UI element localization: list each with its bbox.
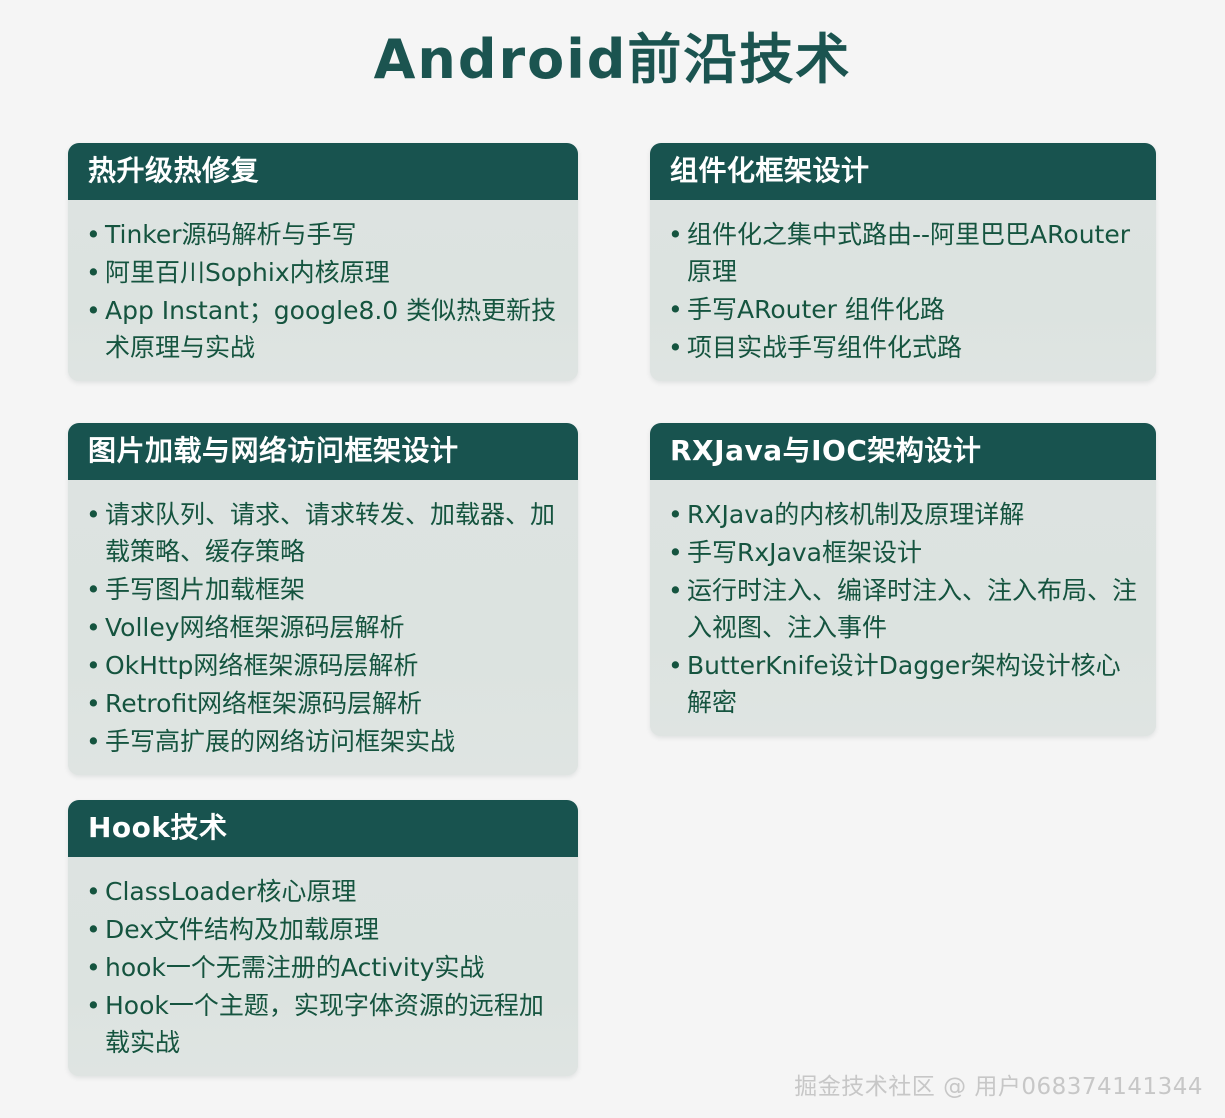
card-modular-title: 组件化框架设计 <box>650 143 1156 200</box>
card-imageload-list: 请求队列、请求、请求转发、加载器、加载策略、缓存策略 手写图片加载框架 Voll… <box>86 496 560 760</box>
card-hook: Hook技术 ClassLoader核心原理 Dex文件结构及加载原理 hook… <box>68 800 578 1076</box>
card-rxjava-list: RXJava的内核机制及原理详解 手写RxJava框架设计 运行时注入、编译时注… <box>668 496 1138 721</box>
list-item: 手写ARouter 组件化路 <box>668 291 1138 328</box>
card-rxjava: RXJava与IOC架构设计 RXJava的内核机制及原理详解 手写RxJava… <box>650 423 1156 736</box>
card-hotfix-list: Tinker源码解析与手写 阿里百川Sophix内核原理 App Instant… <box>86 216 560 366</box>
card-modular-body: 组件化之集中式路由--阿里巴巴ARouter原理 手写ARouter 组件化路 … <box>650 200 1156 381</box>
card-board: 热升级热修复 Tinker源码解析与手写 阿里百川Sophix内核原理 App … <box>0 0 1225 1118</box>
card-imageload: 图片加载与网络访问框架设计 请求队列、请求、请求转发、加载器、加载策略、缓存策略… <box>68 423 578 775</box>
list-item: 请求队列、请求、请求转发、加载器、加载策略、缓存策略 <box>86 496 560 570</box>
list-item: 项目实战手写组件化式路 <box>668 329 1138 366</box>
list-item: 手写图片加载框架 <box>86 571 560 608</box>
list-item: RXJava的内核机制及原理详解 <box>668 496 1138 533</box>
list-item: hook一个无需注册的Activity实战 <box>86 949 560 986</box>
card-hook-body: ClassLoader核心原理 Dex文件结构及加载原理 hook一个无需注册的… <box>68 857 578 1076</box>
card-imageload-body: 请求队列、请求、请求转发、加载器、加载策略、缓存策略 手写图片加载框架 Voll… <box>68 480 578 775</box>
list-item: 组件化之集中式路由--阿里巴巴ARouter原理 <box>668 216 1138 290</box>
card-hook-list: ClassLoader核心原理 Dex文件结构及加载原理 hook一个无需注册的… <box>86 873 560 1061</box>
card-rxjava-title: RXJava与IOC架构设计 <box>650 423 1156 480</box>
card-hotfix-body: Tinker源码解析与手写 阿里百川Sophix内核原理 App Instant… <box>68 200 578 381</box>
card-hook-title: Hook技术 <box>68 800 578 857</box>
list-item: 手写高扩展的网络访问框架实战 <box>86 723 560 760</box>
card-imageload-title: 图片加载与网络访问框架设计 <box>68 423 578 480</box>
list-item: Dex文件结构及加载原理 <box>86 911 560 948</box>
list-item: App Instant；google8.0 类似热更新技术原理与实战 <box>86 292 560 366</box>
list-item: Hook一个主题，实现字体资源的远程加载实战 <box>86 987 560 1061</box>
list-item: ClassLoader核心原理 <box>86 873 560 910</box>
list-item: Tinker源码解析与手写 <box>86 216 560 253</box>
card-hotfix-title: 热升级热修复 <box>68 143 578 200</box>
list-item: 手写RxJava框架设计 <box>668 534 1138 571</box>
card-modular: 组件化框架设计 组件化之集中式路由--阿里巴巴ARouter原理 手写ARout… <box>650 143 1156 381</box>
list-item: Volley网络框架源码层解析 <box>86 609 560 646</box>
list-item: OkHttp网络框架源码层解析 <box>86 647 560 684</box>
list-item: 阿里百川Sophix内核原理 <box>86 254 560 291</box>
watermark: 掘金技术社区 @ 用户068374141344 <box>794 1072 1203 1102</box>
card-rxjava-body: RXJava的内核机制及原理详解 手写RxJava框架设计 运行时注入、编译时注… <box>650 480 1156 736</box>
list-item: 运行时注入、编译时注入、注入布局、注入视图、注入事件 <box>668 572 1138 646</box>
card-modular-list: 组件化之集中式路由--阿里巴巴ARouter原理 手写ARouter 组件化路 … <box>668 216 1138 366</box>
card-hotfix: 热升级热修复 Tinker源码解析与手写 阿里百川Sophix内核原理 App … <box>68 143 578 381</box>
list-item: ButterKnife设计Dagger架构设计核心解密 <box>668 647 1138 721</box>
list-item: Retrofit网络框架源码层解析 <box>86 685 560 722</box>
